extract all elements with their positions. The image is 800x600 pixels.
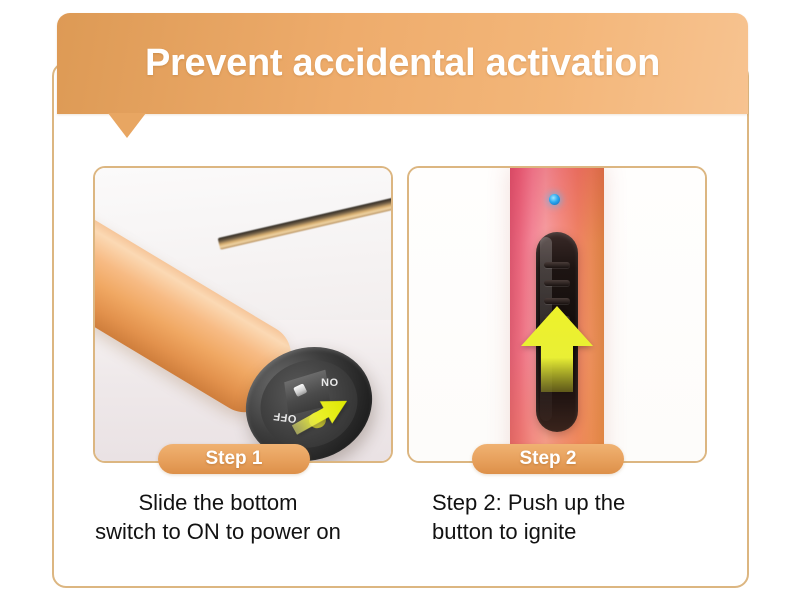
step-panels: OFF ON: [0, 0, 800, 600]
up-arrow-icon: [521, 306, 593, 392]
slider-ridge: [544, 298, 570, 304]
step-1-badge: Step 1: [158, 444, 310, 474]
step-2-caption: Step 2: Push up the button to ignite: [432, 488, 732, 546]
slider-ridge: [544, 262, 570, 268]
slider-ridge: [544, 280, 570, 286]
switch-nub: [293, 384, 307, 397]
step-2-panel: [407, 166, 707, 463]
lighter-ignite-button-photo: [409, 168, 705, 461]
switch-label-on: ON: [320, 375, 338, 387]
step-1-caption: Slide the bottom switch to ON to power o…: [58, 488, 378, 546]
step-1-panel: OFF ON: [93, 166, 393, 463]
lighter-bottom-switch-photo: OFF ON: [95, 168, 391, 461]
infographic-root: Prevent accidental activation OFF ON: [0, 0, 800, 600]
step-2-badge: Step 2: [472, 444, 624, 474]
